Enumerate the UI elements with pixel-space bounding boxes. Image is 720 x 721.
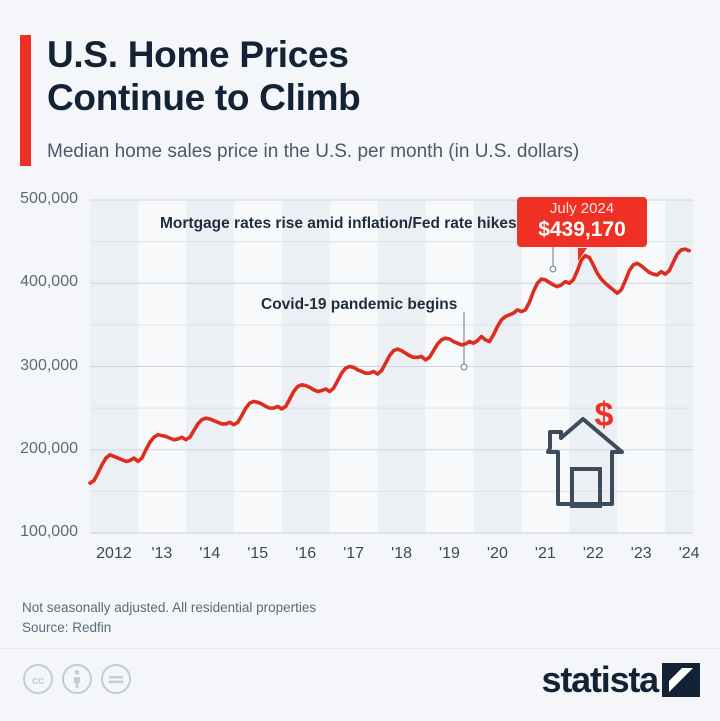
title-line-1: U.S. Home Prices xyxy=(47,33,707,76)
x-tick-label: '16 xyxy=(295,545,316,563)
y-tick-label: 100,000 xyxy=(0,523,78,541)
y-tick-label: 300,000 xyxy=(0,357,78,375)
dollar-sign-icon: $ xyxy=(595,396,614,434)
x-tick-label: '17 xyxy=(343,545,364,563)
page-subtitle: Median home sales price in the U.S. per … xyxy=(47,140,579,164)
creative-commons-icon[interactable]: cc xyxy=(22,663,54,695)
header: U.S. Home Prices Continue to Climb Media… xyxy=(0,0,720,182)
callout-pointer xyxy=(578,248,587,261)
y-tick-label: 400,000 xyxy=(0,273,78,291)
x-tick-label: '19 xyxy=(439,545,460,563)
y-tick-label: 200,000 xyxy=(0,440,78,458)
x-tick-label: '21 xyxy=(535,545,556,563)
title-line-2: Continue to Climb xyxy=(47,76,707,119)
covid-annotation-marker xyxy=(461,364,467,370)
y-tick-label: 500,000 xyxy=(0,190,78,208)
x-tick-label: '22 xyxy=(583,545,604,563)
x-tick-label: '20 xyxy=(487,545,508,563)
page-title: U.S. Home Prices Continue to Climb xyxy=(47,33,707,119)
footer-source: Source: Redfin xyxy=(22,618,542,638)
callout-date: July 2024 xyxy=(527,200,637,218)
annotation-covid-pandemic: Covid-19 pandemic begins xyxy=(261,296,457,314)
creative-commons-license-icons[interactable]: cc xyxy=(22,663,132,695)
footer-bar: cc statista xyxy=(0,648,720,721)
attribution-icon[interactable] xyxy=(61,663,93,695)
statista-logo[interactable]: statista xyxy=(542,661,700,699)
svg-text:cc: cc xyxy=(32,675,44,687)
x-tick-label: '24 xyxy=(679,545,700,563)
x-tick-label: '23 xyxy=(631,545,652,563)
latest-value-callout: July 2024 $439,170 xyxy=(517,197,647,247)
statista-wordmark: statista xyxy=(542,662,658,698)
chart-container: $ 100,000200,000300,000400,000500,000 20… xyxy=(0,186,720,586)
footer-notes: Not seasonally adjusted. All residential… xyxy=(22,598,542,638)
x-tick-label: '15 xyxy=(247,545,268,563)
x-tick-label: '14 xyxy=(199,545,220,563)
x-tick-label: '18 xyxy=(391,545,412,563)
mortgage-annotation-marker xyxy=(550,266,556,272)
statista-mark-icon xyxy=(662,661,700,699)
x-tick-label: '13 xyxy=(151,545,172,563)
no-derivatives-icon[interactable] xyxy=(100,663,132,695)
x-tick-label: 2012 xyxy=(96,545,132,563)
footer-note: Not seasonally adjusted. All residential… xyxy=(22,598,542,618)
callout-value: $439,170 xyxy=(527,218,637,242)
annotation-mortgage-rates: Mortgage rates rise amid inflation/Fed r… xyxy=(160,215,517,233)
infographic-root: U.S. Home Prices Continue to Climb Media… xyxy=(0,0,720,720)
title-accent-bar xyxy=(20,35,31,166)
